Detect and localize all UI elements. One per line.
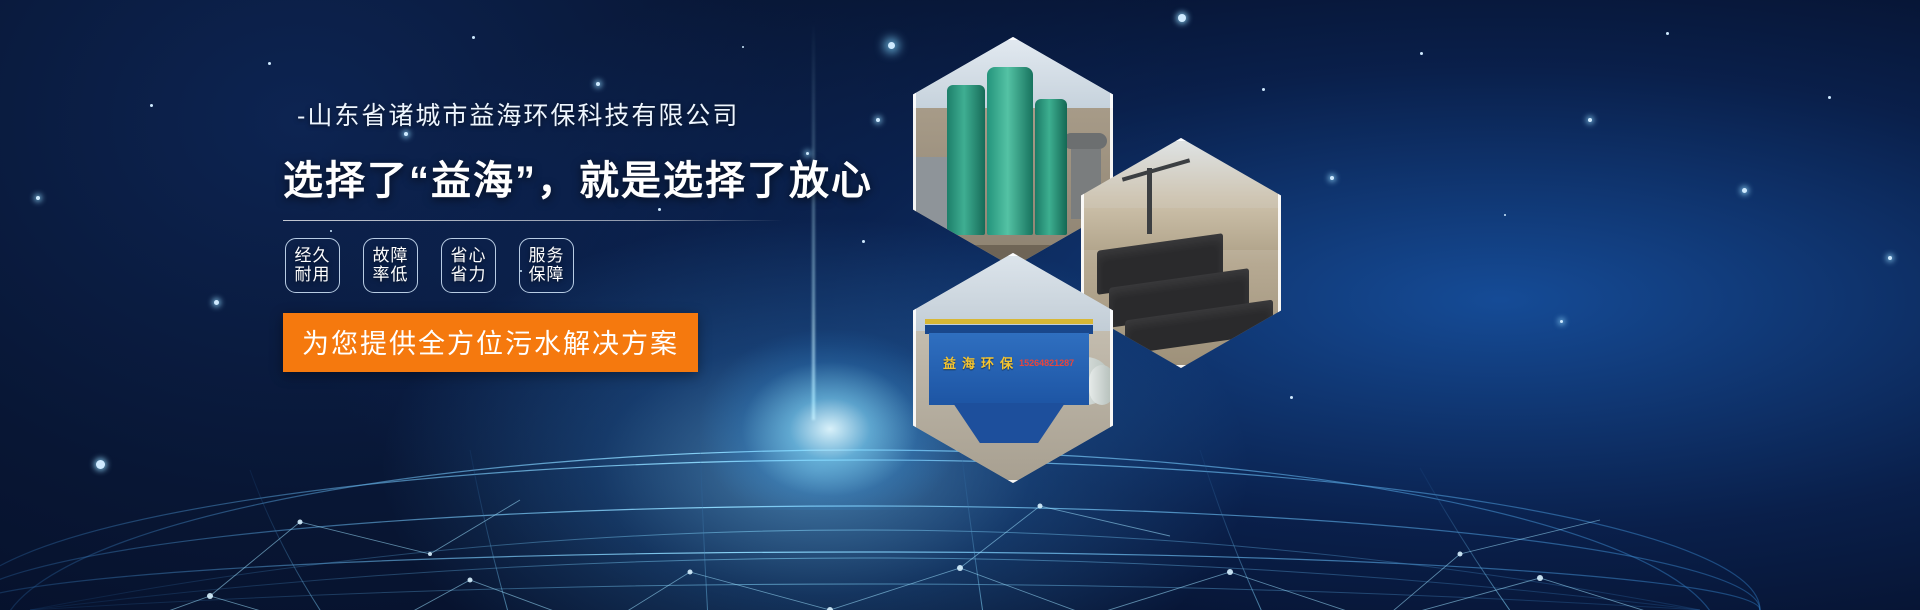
banner-headline: 选择了“益海”，就是选择了放心 [283,148,903,206]
badge-line-2: 耐用 [295,266,331,284]
badge-line-1: 省心 [451,247,487,265]
cta-banner[interactable]: 为您提供全方位污水解决方案 [283,313,698,372]
badge-line-1: 服务 [529,247,565,265]
badge-line-2: 率低 [373,266,409,284]
badge-line-1: 故障 [373,247,409,265]
banner-copy: -山东省诸城市益海环保科技有限公司 选择了“益海”，就是选择了放心 经久 耐用 … [283,96,903,372]
badge-line-2: 省力 [451,266,487,284]
feature-badge-durable: 经久 耐用 [285,238,340,293]
divider [283,220,783,221]
feature-badges: 经久 耐用 故障 率低 省心 省力 服务 保障 [283,238,903,293]
badge-line-2: 保障 [529,266,565,284]
company-name-eyebrow: -山东省诸城市益海环保科技有限公司 [283,96,903,132]
feature-badge-low-failure: 故障 率低 [363,238,418,293]
feature-badge-effortless: 省心 省力 [441,238,496,293]
promo-banner: -山东省诸城市益海环保科技有限公司 选择了“益海”，就是选择了放心 经久 耐用 … [0,0,1920,610]
badge-line-1: 经久 [295,247,331,265]
feature-badge-service: 服务 保障 [519,238,574,293]
